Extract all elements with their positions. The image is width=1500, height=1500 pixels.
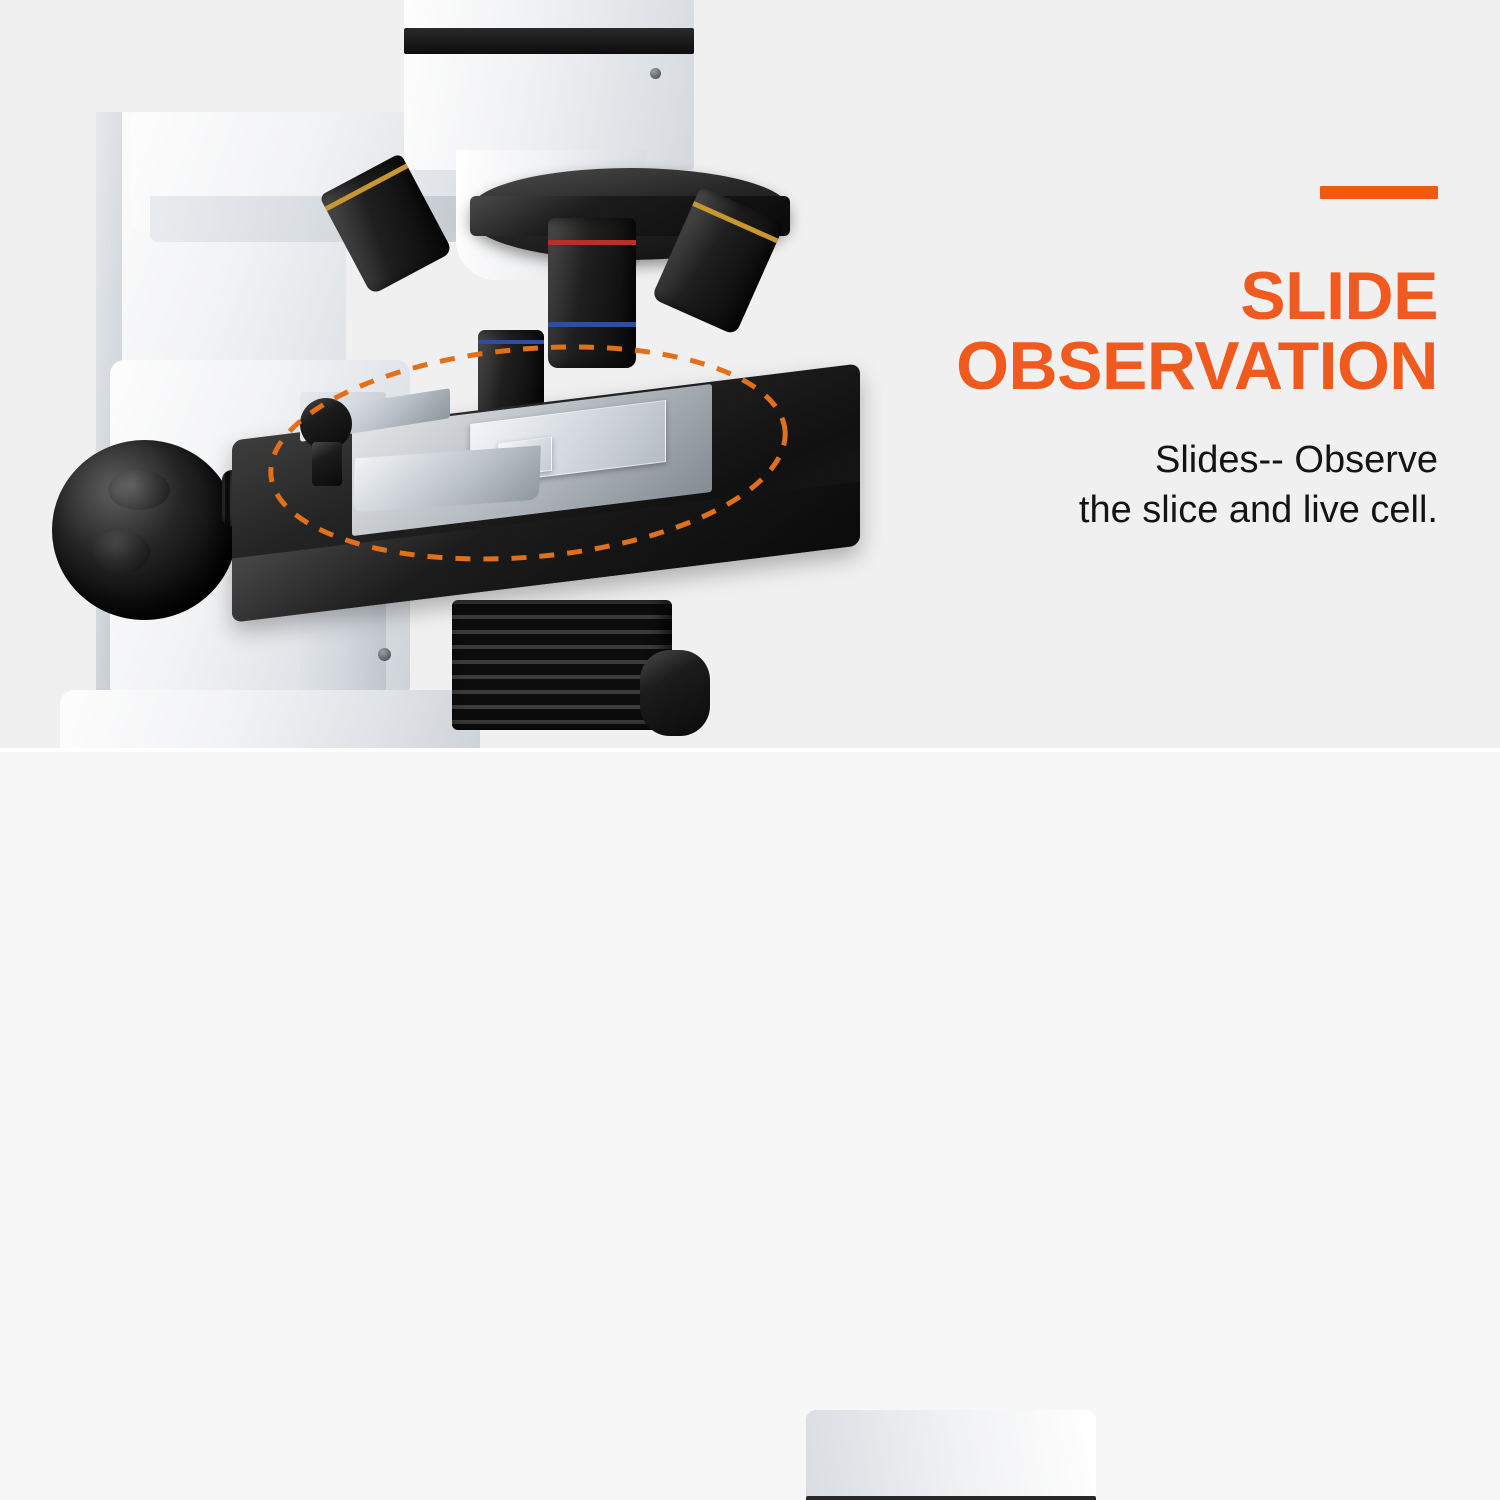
feature-collage: SLIDE OBSERVATION Slides-- Observe the s… bbox=[0, 0, 1500, 1500]
condenser bbox=[452, 600, 672, 730]
panel-slide-observation: SLIDE OBSERVATION Slides-- Observe the s… bbox=[0, 0, 1500, 750]
slide-observation-text: SLIDE OBSERVATION Slides-- Observe the s… bbox=[878, 186, 1438, 535]
panel-divider bbox=[0, 748, 1500, 752]
microscope-slide-photo bbox=[0, 0, 900, 750]
description-line-1: Slides-- Observe bbox=[1155, 439, 1438, 481]
page-title: SLIDE OBSERVATION bbox=[878, 261, 1438, 401]
description-line-2: the slice and live cell. bbox=[1079, 489, 1438, 531]
objective-lens bbox=[548, 218, 636, 368]
headline-line-2: OBSERVATION bbox=[956, 328, 1438, 404]
focus-knob bbox=[52, 440, 237, 620]
accent-bar bbox=[1320, 186, 1438, 199]
headline-line-1: SLIDE bbox=[1240, 258, 1438, 334]
panel-petri-dish-observation: PETRI DISH OBSERVATION Petri Dish-- Obse… bbox=[0, 750, 1500, 1500]
description-text: Slides-- Observe the slice and live cell… bbox=[878, 435, 1438, 535]
